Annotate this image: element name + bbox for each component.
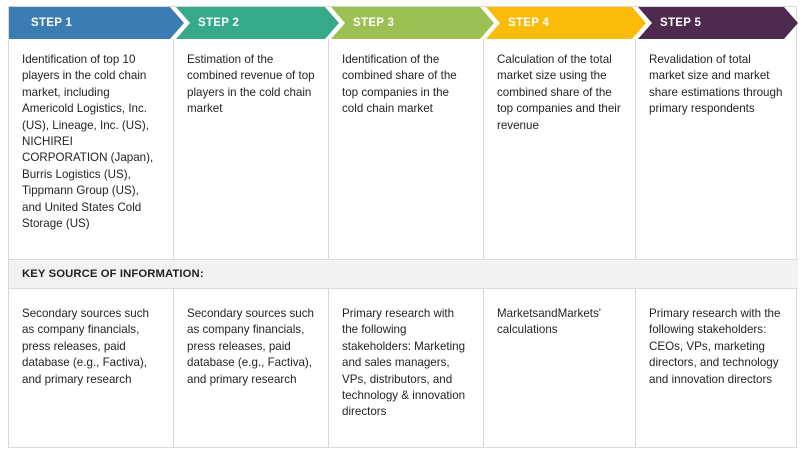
step-label-4: STEP 4 <box>508 17 549 29</box>
step-arrow-3: STEP 3 <box>331 7 494 39</box>
step-arrow-2: STEP 2 <box>176 7 339 39</box>
key-source-label: KEY SOURCE OF INFORMATION: <box>22 268 204 280</box>
methodology-diagram: STEP 1 STEP 2 STEP 3 STEP 4 STEP 5 <box>8 6 797 448</box>
step-label-3: STEP 3 <box>353 17 394 29</box>
step-description-2: Estimation of the combined revenue of to… <box>174 39 329 259</box>
key-source-5: Primary research with the following stak… <box>636 289 798 448</box>
step-description-3: Identification of the combined share of … <box>329 39 484 259</box>
step-arrow-band: STEP 1 STEP 2 STEP 3 STEP 4 STEP 5 <box>9 7 798 39</box>
step-arrow-1: STEP 1 <box>9 7 184 39</box>
step-arrow-4: STEP 4 <box>486 7 646 39</box>
key-source-1: Secondary sources such as company financ… <box>9 289 174 448</box>
step-description-row: Identification of top 10 players in the … <box>9 39 798 259</box>
key-source-banner: KEY SOURCE OF INFORMATION: <box>9 259 798 289</box>
step-description-5: Revalidation of total market size and ma… <box>636 39 798 259</box>
key-source-2: Secondary sources such as company financ… <box>174 289 329 448</box>
key-source-3: Primary research with the following stak… <box>329 289 484 448</box>
step-label-1: STEP 1 <box>31 17 72 29</box>
step-description-4: Calculation of the total market size usi… <box>484 39 636 259</box>
step-label-5: STEP 5 <box>660 17 701 29</box>
step-arrow-5: STEP 5 <box>638 7 798 39</box>
key-source-row: Secondary sources such as company financ… <box>9 289 798 448</box>
key-source-4: MarketsandMarkets' calculations <box>484 289 636 448</box>
step-label-2: STEP 2 <box>198 17 239 29</box>
step-description-1: Identification of top 10 players in the … <box>9 39 174 259</box>
